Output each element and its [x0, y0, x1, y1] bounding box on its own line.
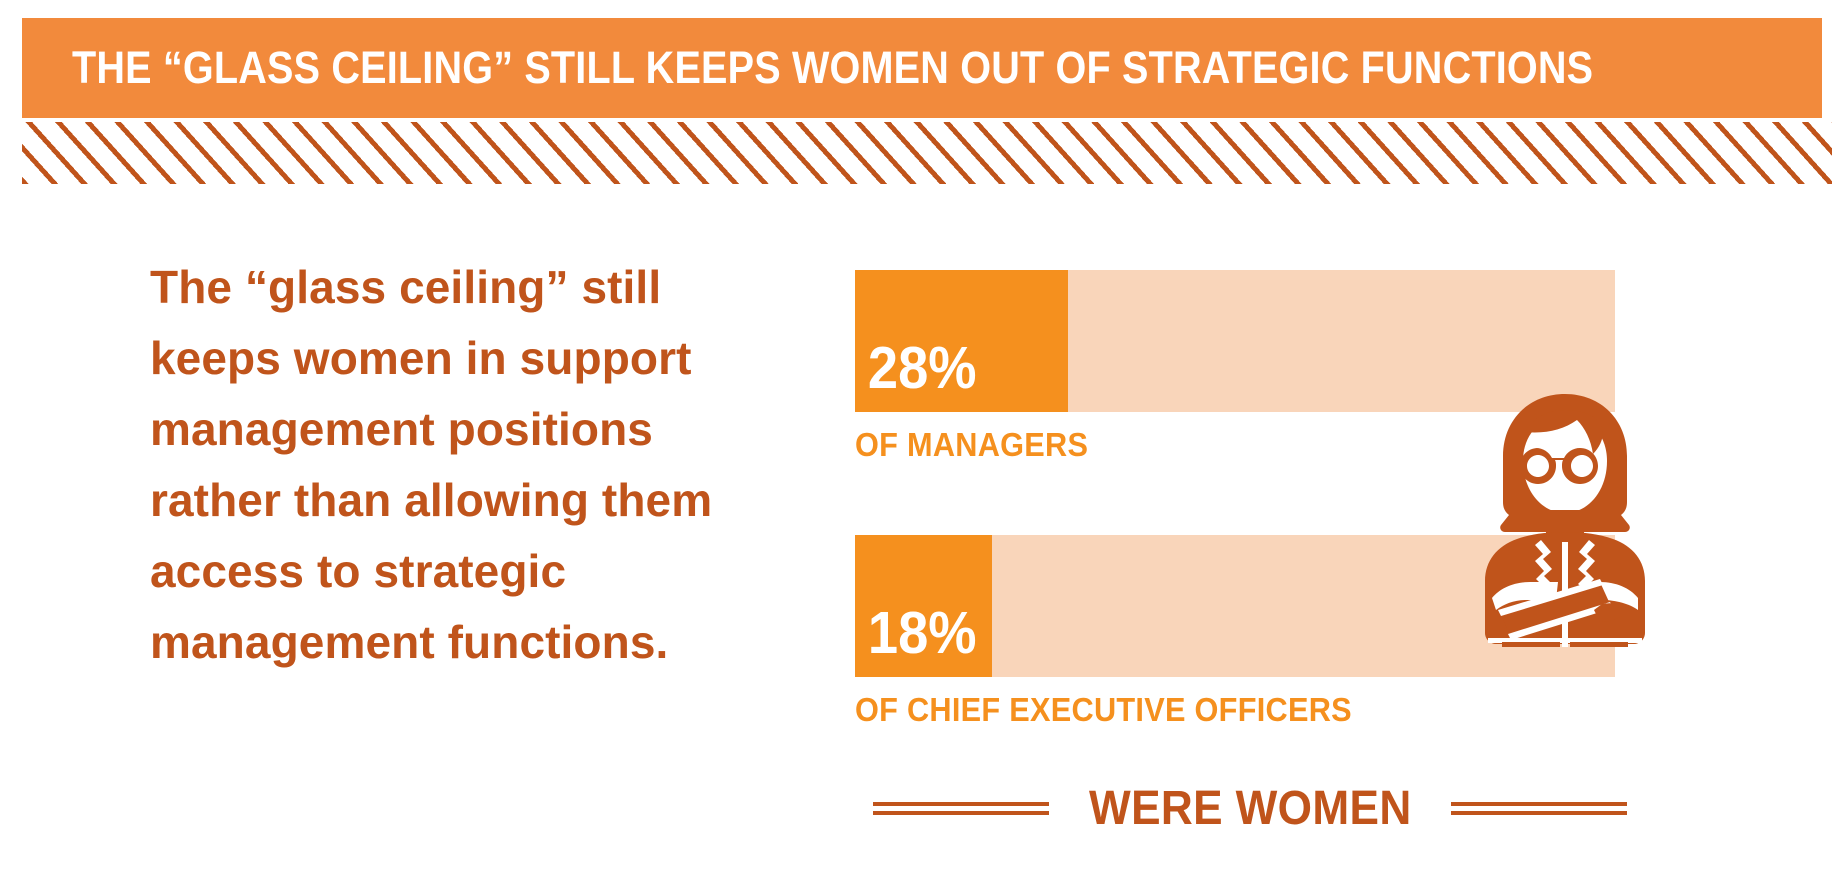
bar-fill: 28% — [855, 270, 1068, 412]
body-paragraph: The “glass ceiling” still keeps women in… — [150, 252, 730, 678]
page-title: THE “GLASS CEILING” STILL KEEPS WOMEN OU… — [72, 42, 1593, 94]
bar-fill: 18% — [855, 535, 992, 677]
header-banner: THE “GLASS CEILING” STILL KEEPS WOMEN OU… — [22, 18, 1822, 118]
infographic-canvas: THE “GLASS CEILING” STILL KEEPS WOMEN OU… — [0, 0, 1846, 890]
businesswoman-icon — [1440, 392, 1690, 647]
bar-value-label: 18% — [855, 604, 977, 677]
diagonal-hatch-divider — [22, 122, 1832, 184]
bar-track: 28% — [855, 270, 1615, 412]
divider-rule-right — [1451, 802, 1627, 815]
bar-value-label: 28% — [855, 339, 977, 412]
bar-category-label: OF CHIEF EXECUTIVE OFFICERS — [855, 691, 1590, 729]
footer-text: WERE WOMEN — [1089, 781, 1412, 836]
footer-caption: WERE WOMEN — [855, 778, 1645, 838]
divider-rule-left — [873, 802, 1049, 815]
